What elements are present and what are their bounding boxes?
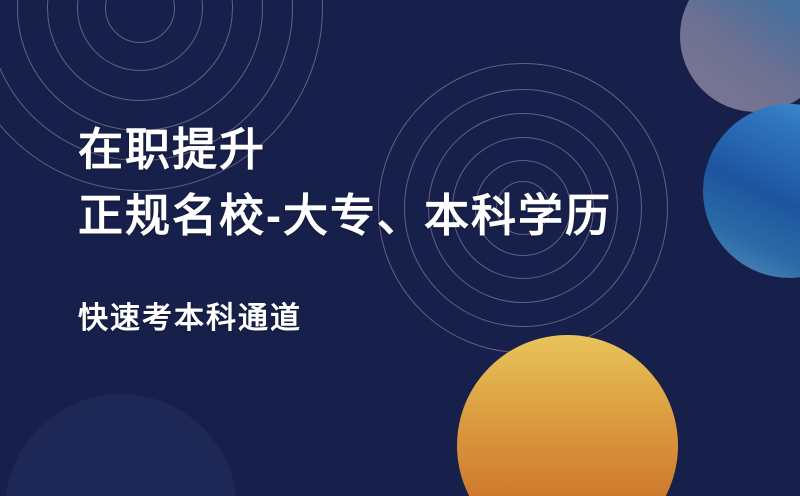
headline-line-1: 在职提升: [78, 118, 728, 182]
promo-banner: 在职提升 正规名校-大专、本科学历 快速考本科通道: [0, 0, 800, 496]
banner-subheadline: 快速考本科通道: [78, 298, 728, 340]
ring-3-icon: [47, 0, 233, 101]
ring-2-icon: [77, 0, 203, 71]
banner-text-block: 在职提升 正规名校-大专、本科学历 快速考本科通道: [78, 118, 728, 340]
ring-1-icon: [105, 0, 175, 43]
headline-line-2: 正规名校-大专、本科学历: [78, 182, 728, 250]
decorative-circle-grey-top-right: [680, 0, 800, 112]
ring-4-icon: [17, 0, 263, 131]
decorative-circle-bottom-left: [5, 394, 237, 496]
decorative-circle-orange: [457, 335, 678, 496]
